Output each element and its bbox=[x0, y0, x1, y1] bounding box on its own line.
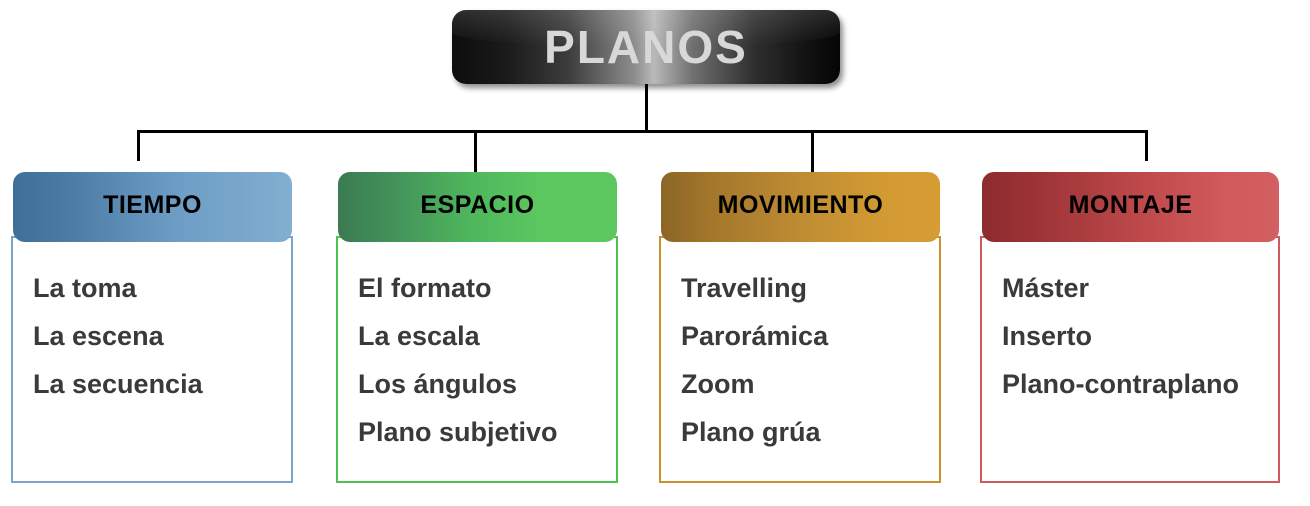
list-item: Parorámica bbox=[681, 312, 939, 360]
connector-trunk-vertical bbox=[645, 84, 648, 132]
root-node-planos[interactable]: PLANOS bbox=[452, 10, 840, 84]
category-header-label: MOVIMIENTO bbox=[718, 193, 884, 218]
list-item: La escala bbox=[358, 312, 616, 360]
list-item: La escena bbox=[33, 312, 291, 360]
list-item: Travelling bbox=[681, 264, 939, 312]
list-item: Zoom bbox=[681, 360, 939, 408]
root-node-title: PLANOS bbox=[544, 24, 748, 70]
list-item: El formato bbox=[358, 264, 616, 312]
connector-horizontal-bus bbox=[137, 130, 1148, 133]
list-item: Plano grúa bbox=[681, 408, 939, 456]
category-header-montaje[interactable]: MONTAJE bbox=[982, 172, 1279, 242]
list-item: Inserto bbox=[1002, 312, 1278, 360]
category-header-label: TIEMPO bbox=[103, 193, 202, 218]
list-item: La toma bbox=[33, 264, 291, 312]
list-item: Los ángulos bbox=[358, 360, 616, 408]
category-body-montaje: Máster Inserto Plano-contraplano bbox=[980, 236, 1280, 483]
org-chart-diagram: PLANOS La toma La escena La secuencia TI… bbox=[0, 0, 1310, 506]
list-item: Máster bbox=[1002, 264, 1278, 312]
category-header-label: MONTAJE bbox=[1069, 193, 1193, 218]
category-header-label: ESPACIO bbox=[420, 193, 534, 218]
list-item: La secuencia bbox=[33, 360, 291, 408]
category-header-tiempo[interactable]: TIEMPO bbox=[13, 172, 292, 242]
list-item: Plano subjetivo bbox=[358, 408, 616, 456]
connector-drop-tiempo bbox=[137, 130, 140, 161]
list-item: Plano-contraplano bbox=[1002, 360, 1278, 408]
category-header-espacio[interactable]: ESPACIO bbox=[338, 172, 617, 242]
category-body-espacio: El formato La escala Los ángulos Plano s… bbox=[336, 236, 618, 483]
category-body-movimiento: Travelling Parorámica Zoom Plano grúa bbox=[659, 236, 941, 483]
category-body-tiempo: La toma La escena La secuencia bbox=[11, 236, 293, 483]
connector-drop-montaje bbox=[1145, 130, 1148, 161]
category-header-movimiento[interactable]: MOVIMIENTO bbox=[661, 172, 940, 242]
